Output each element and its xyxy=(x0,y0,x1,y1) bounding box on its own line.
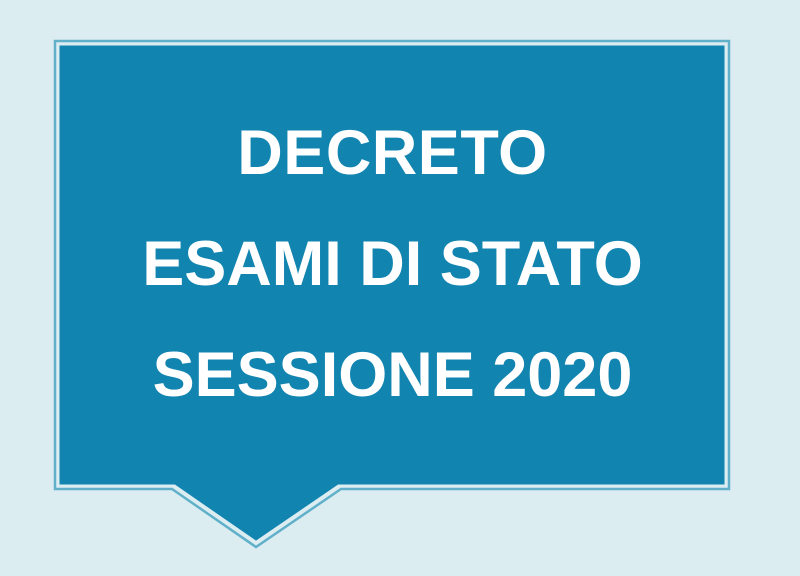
poster-canvas: DECRETO ESAMI DI STATO SESSIONE 2020 xyxy=(0,0,800,576)
headline-line-decreto: DECRETO xyxy=(58,122,727,185)
headline-line-esami-di-stato: ESAMI DI STATO xyxy=(58,233,727,296)
headline-line-sessione-2020: SESSIONE 2020 xyxy=(58,344,727,407)
headline-block: DECRETO ESAMI DI STATO SESSIONE 2020 xyxy=(58,44,727,489)
